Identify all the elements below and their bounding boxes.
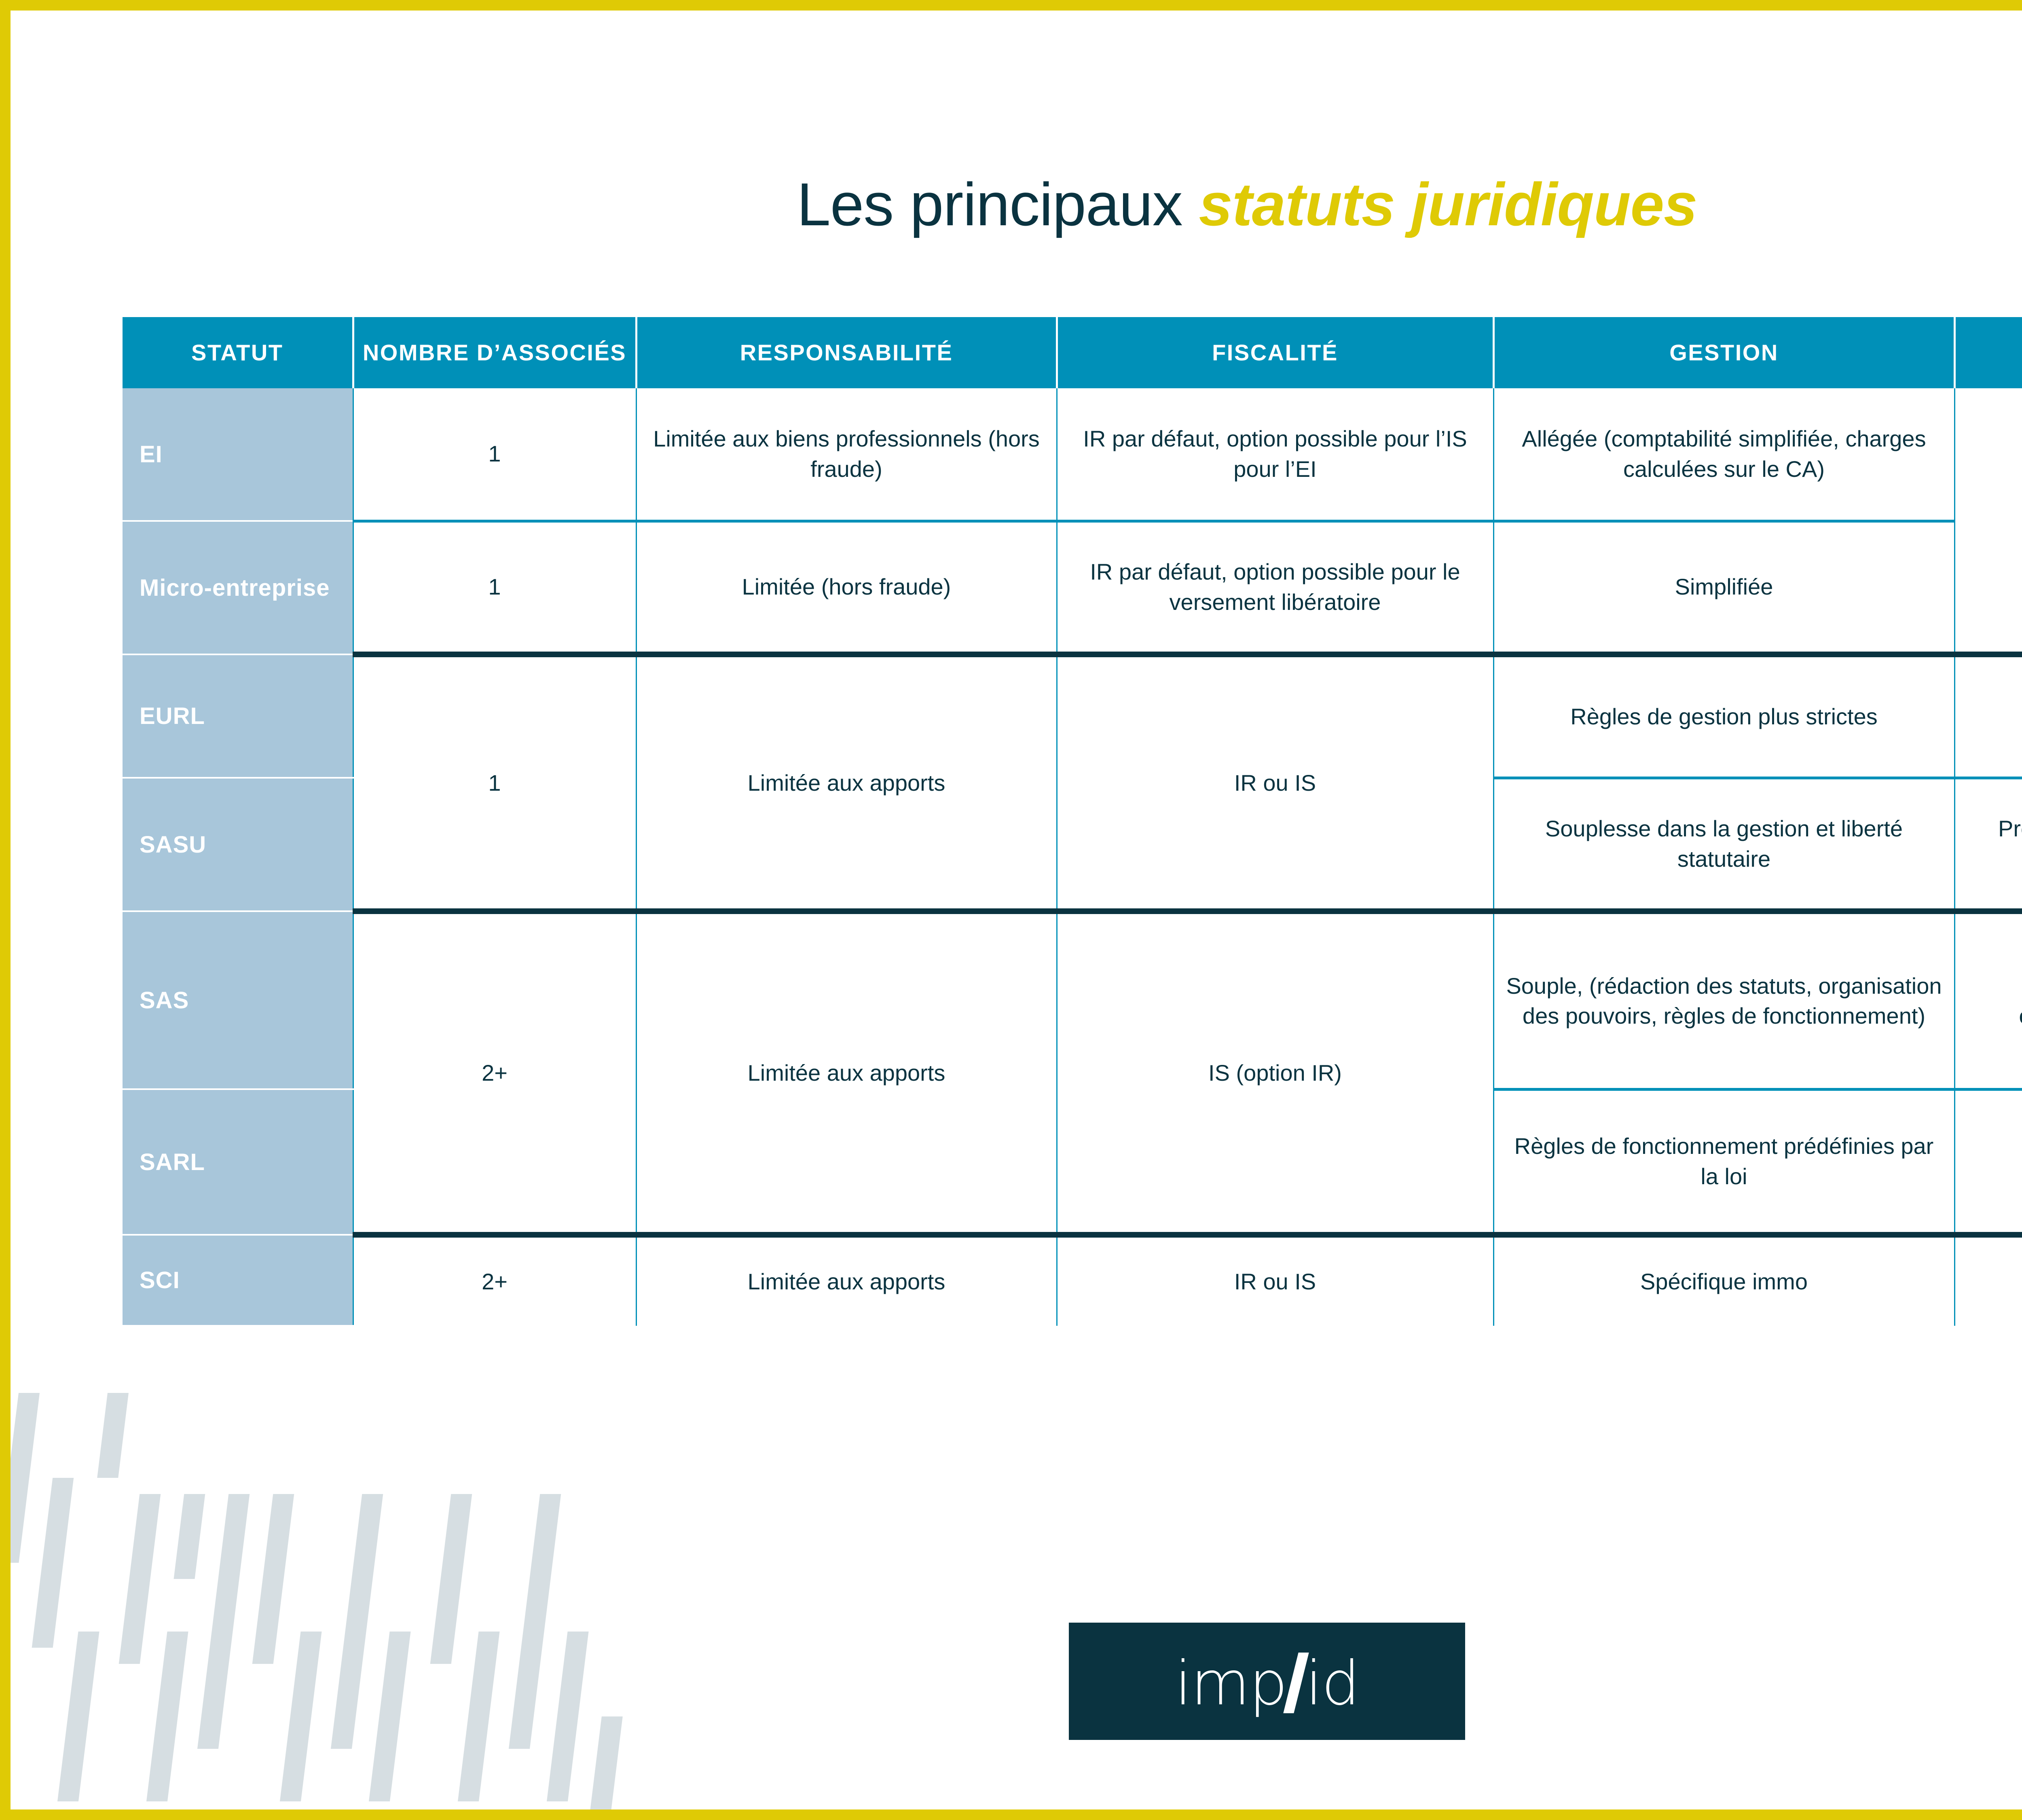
cell-statut: EURL <box>123 654 353 778</box>
cell-statut: SARL <box>123 1089 353 1235</box>
table-row: EI 1 Limitée aux biens professionnels (h… <box>123 388 2022 521</box>
page-title-lead: Les principaux <box>797 170 1199 238</box>
cell-gestion: Spécifique immo <box>1493 1235 1954 1326</box>
statuts-juridiques-table: STATUT NOMBRE D’ASSOCIÉS RESPONSABILITÉ … <box>123 317 2022 1327</box>
decorative-diagonal-stripes <box>11 1393 698 1809</box>
cell-responsabilite: Limitée aux apports <box>636 654 1057 911</box>
cell-gestion: Règles de fonctionnement prédéfinies par… <box>1493 1089 1954 1235</box>
column-header-fiscalite: FISCALITÉ <box>1057 317 1493 388</box>
cell-gestion: Règles de gestion plus strictes <box>1493 654 1954 778</box>
cell-statut: EI <box>123 388 353 521</box>
cell-gestion: Simplifiée <box>1493 521 1954 654</box>
table-header-row: STATUT NOMBRE D’ASSOCIÉS RESPONSABILITÉ … <box>123 317 2022 388</box>
table-row: EURL 1 Limitée aux apports IR ou IS Règl… <box>123 654 2022 778</box>
logo-text-part1: imp <box>1175 1649 1287 1719</box>
cell-ideal-pour: Projets innovants, start-ups ou entrepri… <box>1954 911 2022 1089</box>
cell-responsabilite: Limitée (hors fraude) <box>636 521 1057 654</box>
cell-gestion: Souple, (rédaction des statuts, organisa… <box>1493 911 1954 1089</box>
column-header-responsabilite: RESPONSABILITÉ <box>636 317 1057 388</box>
cell-gestion: Souplesse dans la gestion et liberté sta… <box>1493 778 1954 911</box>
logo-wordmark: imp id <box>1175 1644 1359 1719</box>
statuts-table-container: STATUT NOMBRE D’ASSOCIÉS RESPONSABILITÉ … <box>123 317 2022 1327</box>
cell-responsabilite: Limitée aux apports <box>636 1235 1057 1326</box>
table-row: Micro-entreprise 1 Limitée (hors fraude)… <box>123 521 2022 654</box>
cell-nombre-associes: 2+ <box>353 911 636 1235</box>
cell-fiscalite: IR ou IS <box>1057 1235 1493 1326</box>
cell-statut: Micro-entreprise <box>123 521 353 654</box>
cell-statut: SASU <box>123 778 353 911</box>
cell-ideal-pour: Projets innovants ou en croissance rapid… <box>1954 778 2022 911</box>
column-header-statut: STATUT <box>123 317 353 388</box>
cell-statut: SAS <box>123 911 353 1089</box>
cell-nombre-associes: 2+ <box>353 1235 636 1326</box>
cell-responsabilite: Limitée aux biens professionnels (hors f… <box>636 388 1057 521</box>
table-row: SAS 2+ Limitée aux apports IS (option IR… <box>123 911 2022 1089</box>
cell-ideal-pour: Projet individuel <box>1954 388 2022 654</box>
cell-responsabilite: Limitée aux apports <box>636 911 1057 1235</box>
cell-ideal-pour: Entrepreneur solo <box>1954 654 2022 778</box>
logo-text-part2: id <box>1305 1649 1359 1719</box>
cell-nombre-associes: 1 <box>353 388 636 521</box>
cell-nombre-associes: 1 <box>353 521 636 654</box>
cell-fiscalite: IR par défaut, option possible pour le v… <box>1057 521 1493 654</box>
cell-fiscalite: IR par défaut, option possible pour l’IS… <box>1057 388 1493 521</box>
cell-fiscalite: IR ou IS <box>1057 654 1493 911</box>
table-row: SCI 2+ Limitée aux apports IR ou IS Spéc… <box>123 1235 2022 1326</box>
cell-statut: SCI <box>123 1235 353 1326</box>
column-header-gestion: GESTION <box>1493 317 1954 388</box>
column-header-ideal-pour: IDÉAL POUR <box>1954 317 2022 388</box>
poster-frame: Les principaux statuts juridiques STATUT… <box>0 0 2022 1820</box>
cell-fiscalite: IS (option IR) <box>1057 911 1493 1235</box>
page-title: Les principaux statuts juridiques <box>11 173 2022 237</box>
implid-logo: imp id <box>1069 1623 1465 1740</box>
cell-ideal-pour: Gestion immobilière <box>1954 1235 2022 1326</box>
cell-gestion: Allégée (comptabilité simplifiée, charge… <box>1493 388 1954 521</box>
cell-nombre-associes: 1 <box>353 654 636 911</box>
page-title-accent: statuts juridiques <box>1199 170 1697 238</box>
cell-ideal-pour: Projets entrepreneuriaux plus traditionn… <box>1954 1089 2022 1235</box>
column-header-nombre-associes: NOMBRE D’ASSOCIÉS <box>353 317 636 388</box>
